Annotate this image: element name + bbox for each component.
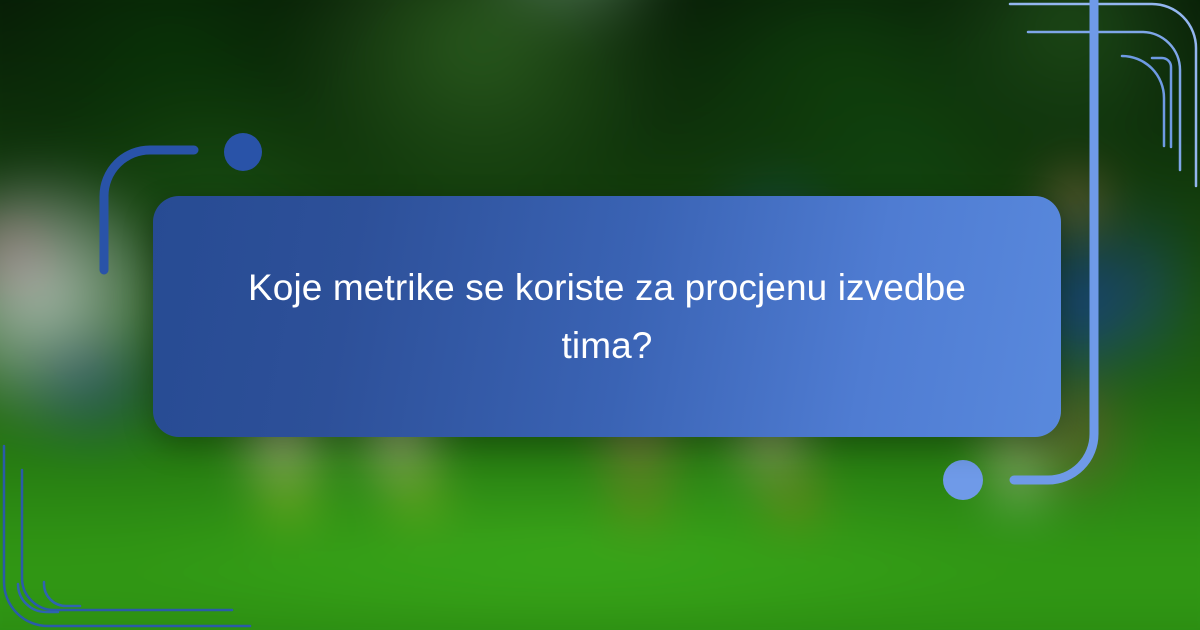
question-text: Koje metrike se koriste za procjenu izve…	[237, 259, 977, 374]
player-blur	[990, 470, 1050, 510]
grass-blur	[120, 460, 1020, 630]
question-card: Koje metrike se koriste za procjenu izve…	[153, 196, 1061, 437]
social-card-canvas: Koje metrike se koriste za procjenu izve…	[0, 0, 1200, 630]
